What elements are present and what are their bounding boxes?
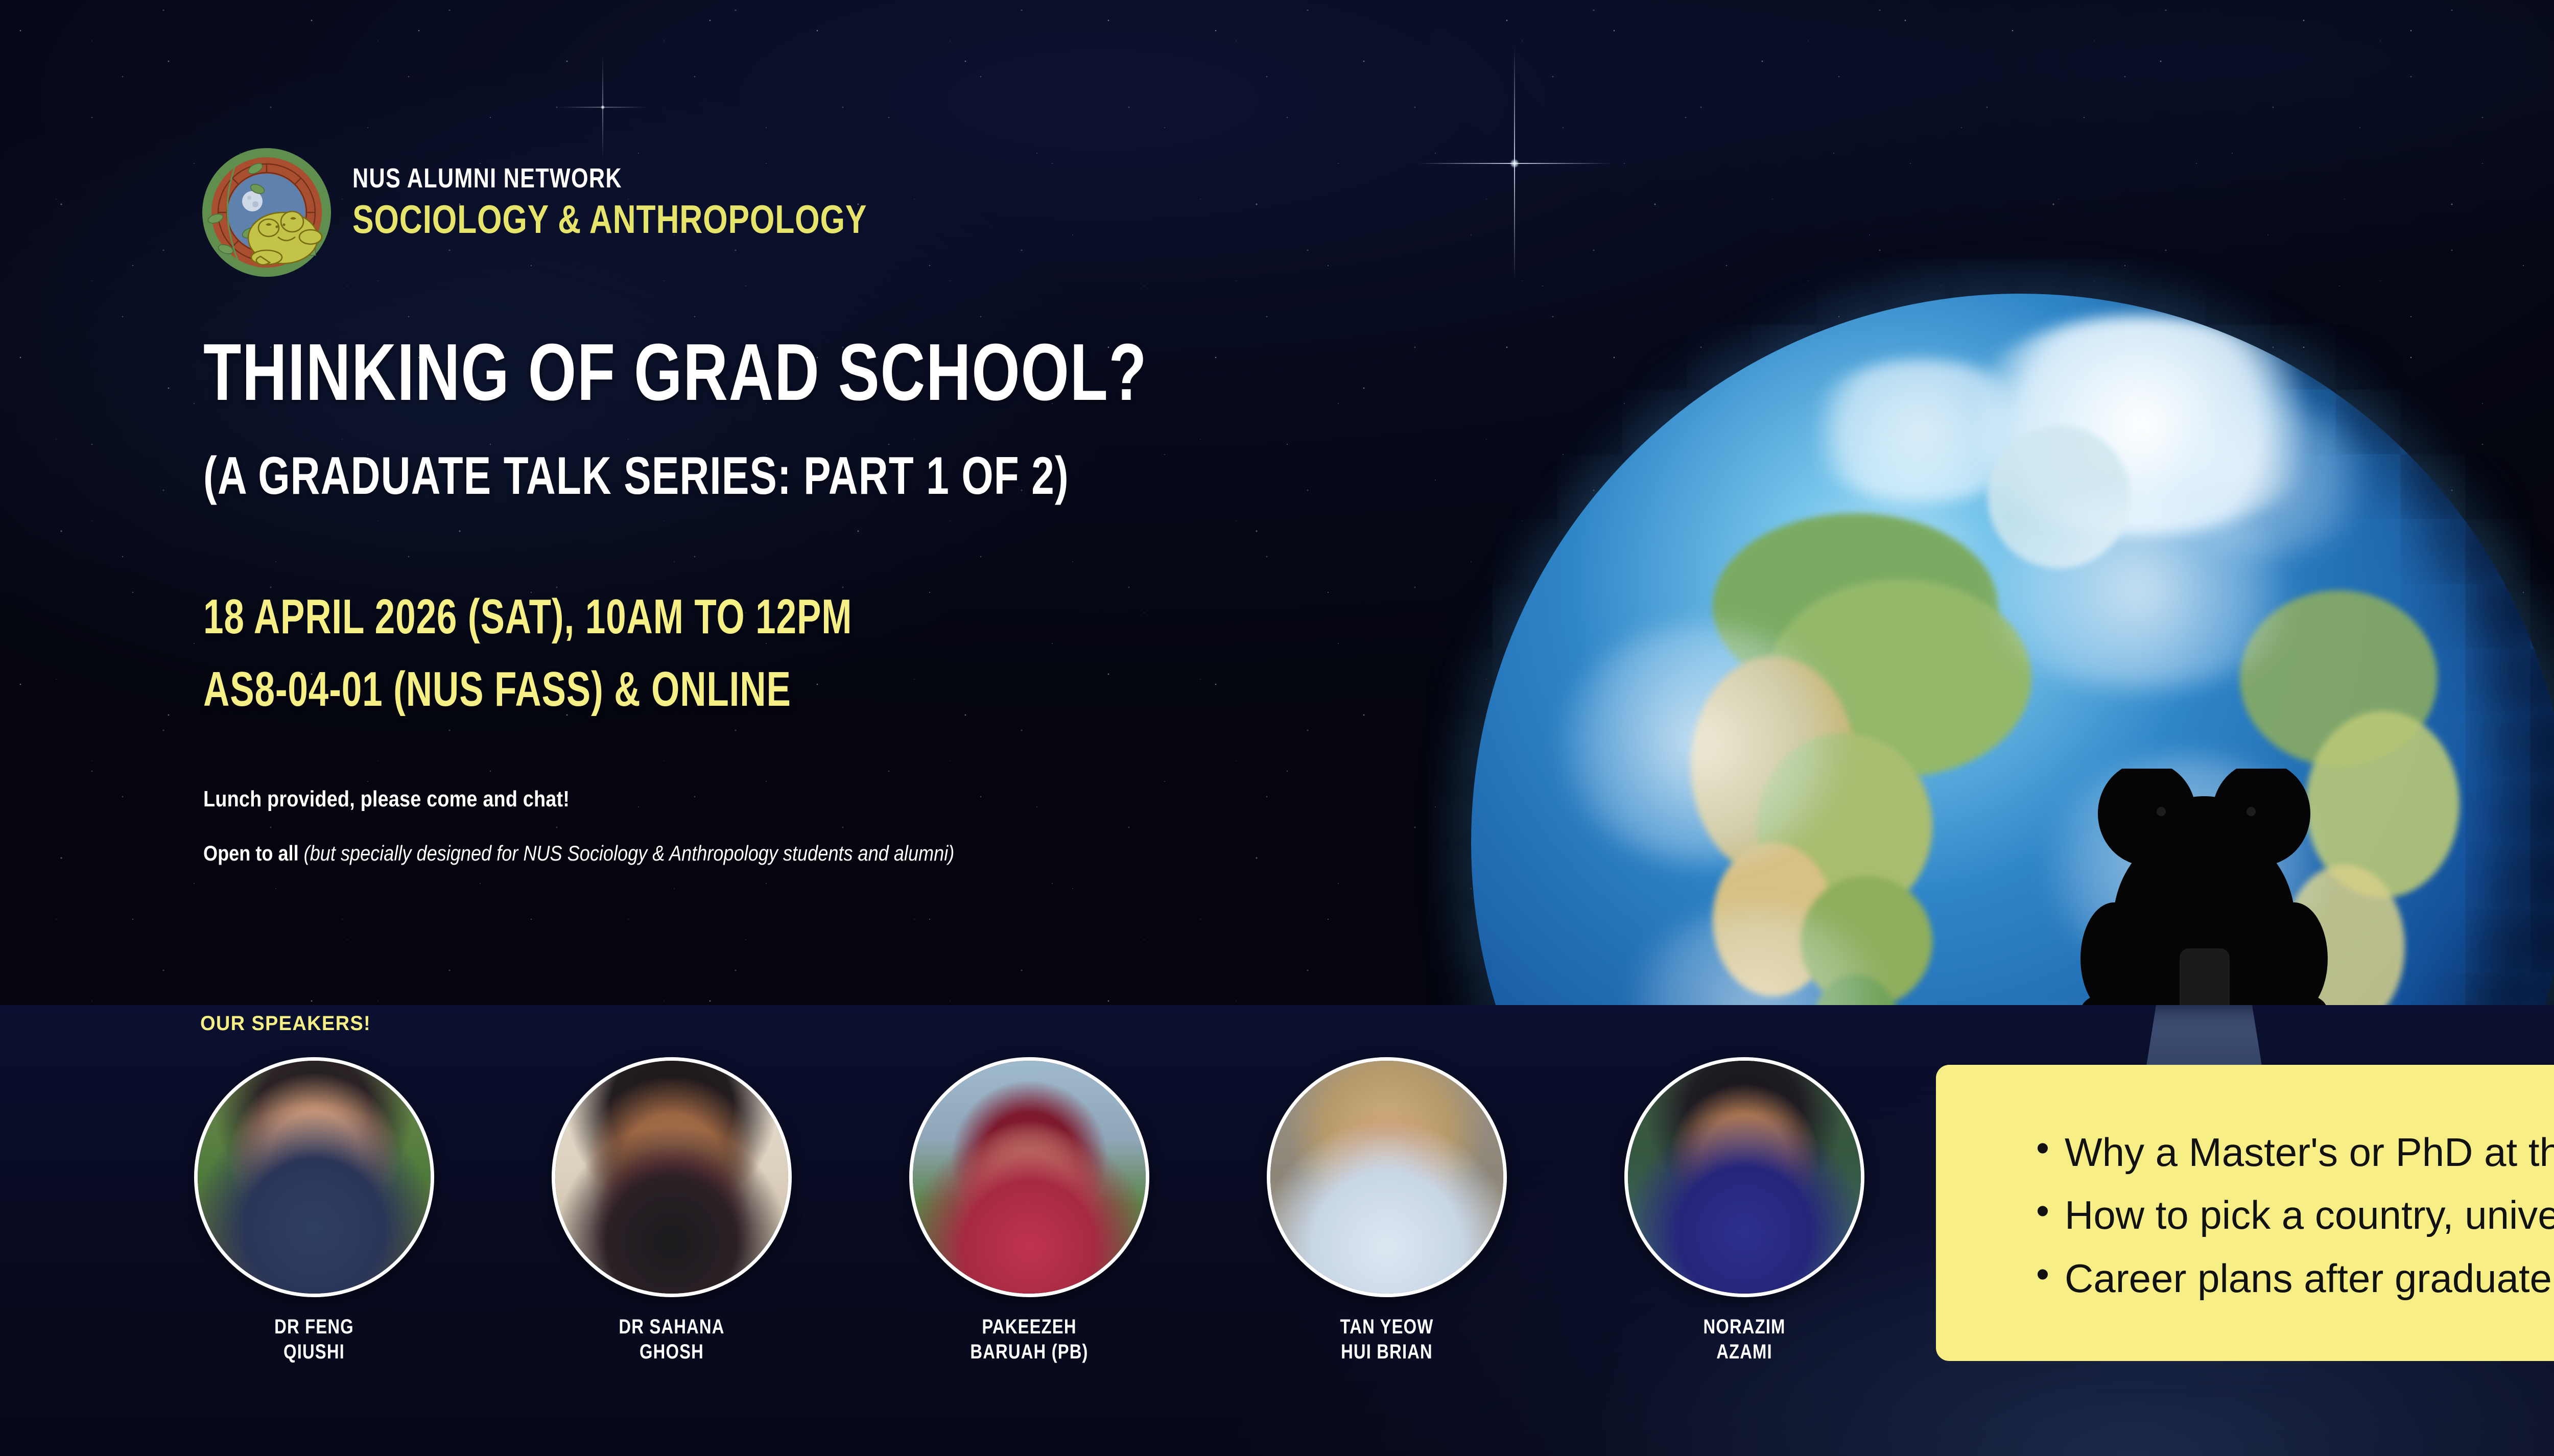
speaker-name-3: PAKEEZEH BARUAH (PB) [931,1315,1127,1365]
note-open-italic: (but specially designed for NUS Sociolog… [304,841,955,865]
speaker-portrait-2 [552,1057,792,1297]
speaker-name-1: DR FENG QIUSHI [216,1315,412,1365]
topics-speech-bubble: Why a Master's or PhD at this point of y… [1936,1065,2554,1361]
speaker-name-4: TAN YEOW HUI BRIAN [1288,1315,1485,1365]
speakers-list: DR FENG QIUSHI DR SAHANA GHOSH PAKEEZEH … [194,1057,1890,1435]
topics-list: Why a Master's or PhD at this point of y… [2033,1130,2554,1319]
speaker-card-3: PAKEEZEH BARUAH (PB) [909,1057,1149,1365]
topic-item: How to pick a country, university, and p… [2033,1193,2554,1237]
speaker-card-1: DR FENG QIUSHI [194,1057,434,1365]
speakers-heading: OUR SPEAKERS! [200,1012,371,1035]
frog-in-well-logo-icon [201,147,332,278]
speaker-name-5: NORAZIM AZAMI [1646,1315,1842,1365]
speaker-card-2: DR SAHANA GHOSH [552,1057,792,1365]
topic-item: Why a Master's or PhD at this point of y… [2033,1130,2554,1175]
note-open-to-all: Open to all (but specially designed for … [203,840,1038,867]
event-datetime: 18 APRIL 2026 (SAT), 10AM TO 12PM [203,592,852,641]
speaker-card-5: NORAZIM AZAMI [1624,1057,1864,1365]
speaker-portrait-5 [1624,1057,1864,1297]
speaker-card-4: TAN YEOW HUI BRIAN [1267,1057,1507,1365]
brand-text: NUS ALUMNI NETWORK SOCIOLOGY & ANTHROPOL… [352,162,996,243]
event-venue: AS8-04-01 (NUS FASS) & ONLINE [203,665,791,714]
frog-silhouette-icon [2061,769,2347,1005]
speaker-portrait-1 [194,1057,434,1297]
speaker-name-2: DR SAHANA GHOSH [573,1315,770,1365]
poster-canvas: NUS ALUMNI NETWORK SOCIOLOGY & ANTHROPOL… [0,0,2554,1456]
brand-network-line: NUS ALUMNI NETWORK [352,162,867,194]
speaker-portrait-3 [909,1057,1149,1297]
page-subtitle: (A GRADUATE TALK SERIES: PART 1 OF 2) [203,449,1069,503]
topic-item: Career plans after graduate school? [2033,1256,2554,1301]
note-lunch: Lunch provided, please come and chat! [203,786,570,812]
note-open-bold: Open to all [203,841,299,865]
page-title: THINKING OF GRAD SCHOOL? [203,332,1147,413]
speaker-portrait-4 [1267,1057,1507,1297]
brand-department-line: SOCIOLOGY & ANTHROPOLOGY [352,196,867,243]
earth-globe-icon [1471,294,2554,1005]
